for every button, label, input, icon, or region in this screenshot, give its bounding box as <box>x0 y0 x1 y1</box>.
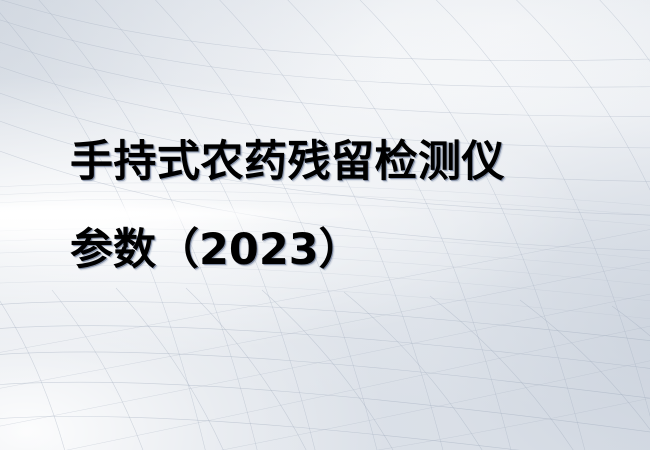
banner-title-line-1: 手持式农药残留检测仪 <box>70 118 630 206</box>
title-banner: 手持式农药残留检测仪 参数（2023） <box>0 0 650 450</box>
banner-title-block: 手持式农药残留检测仪 参数（2023） <box>70 118 630 294</box>
banner-title-line-2: 参数（2023） <box>70 206 630 294</box>
